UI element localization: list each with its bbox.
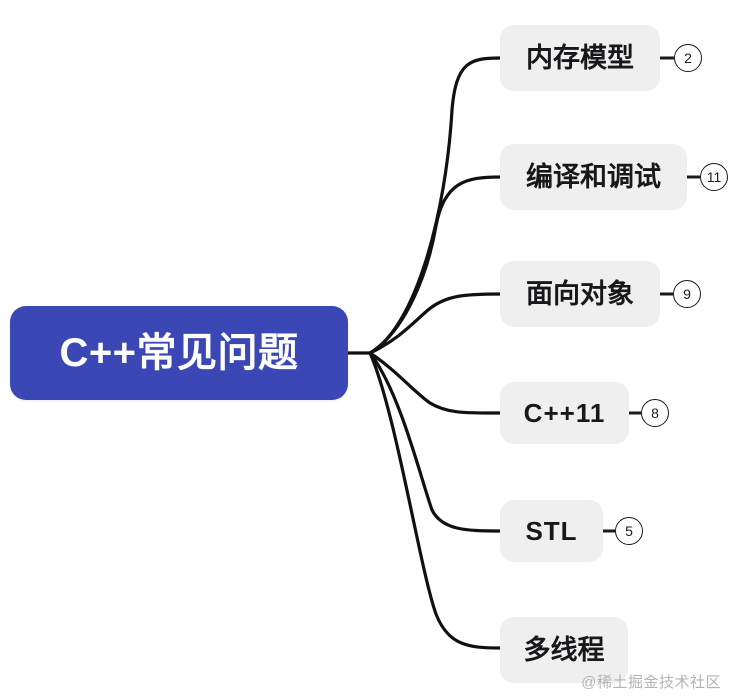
edge-to-topic-4 (370, 353, 500, 413)
topic-node-label: 编译和调试 (526, 164, 661, 191)
root-node-label: C++常见问题 (59, 333, 298, 373)
topic-node-label: C++11 (524, 400, 606, 426)
topic-node-label: 多线程 (524, 637, 605, 664)
topic-node-label: 内存模型 (526, 45, 634, 72)
edge-to-topic-3 (370, 294, 500, 353)
topic-count-badge-label: 11 (707, 170, 722, 184)
topic-node-stl[interactable]: STL (500, 500, 603, 562)
topic-node-label: 面向对象 (526, 281, 634, 308)
topic-count-badge-compile-debug: 11 (700, 163, 728, 191)
topic-node-compile-debug[interactable]: 编译和调试 (500, 144, 687, 210)
edge-to-topic-6 (370, 353, 500, 648)
edge-to-topic-5 (370, 353, 500, 531)
watermark: @稀土掘金技术社区 (581, 671, 721, 692)
edge-to-topic-2 (370, 177, 500, 353)
topic-node-label: STL (525, 518, 577, 544)
topic-count-badge-cpp11: 8 (641, 399, 669, 427)
edge-to-topic-1 (370, 58, 500, 353)
topic-count-badge-oop: 9 (673, 280, 701, 308)
topic-node-cpp11[interactable]: C++11 (500, 382, 629, 444)
root-node[interactable]: C++常见问题 (10, 306, 348, 400)
topic-count-badge-label: 5 (625, 524, 633, 538)
topic-node-memory-model[interactable]: 内存模型 (500, 25, 660, 91)
topic-count-badge-label: 9 (683, 287, 691, 301)
topic-node-oop[interactable]: 面向对象 (500, 261, 660, 327)
topic-count-badge-stl: 5 (615, 517, 643, 545)
mindmap-canvas: C++常见问题 内存模型 2 编译和调试 11 面向对象 9 C++11 8 S… (0, 0, 731, 700)
topic-count-badge-memory-model: 2 (674, 44, 702, 72)
topic-count-badge-label: 2 (684, 51, 692, 65)
topic-count-badge-label: 8 (651, 406, 659, 420)
